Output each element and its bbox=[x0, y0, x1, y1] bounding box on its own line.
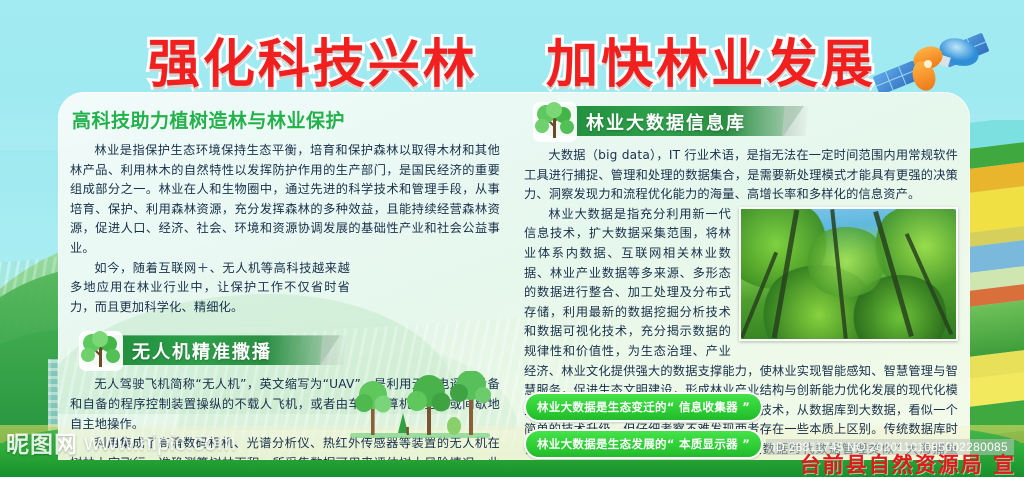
title-main: 强化科技兴林 bbox=[148, 22, 478, 97]
credit-line: 台前县自然资源局 宣 bbox=[800, 449, 1016, 477]
trees-illustration bbox=[344, 371, 494, 449]
drone-banner-tail bbox=[320, 335, 346, 365]
bigdata-paragraph-1: 大数据（big data），IT 行业术语，是指无法在一定时间范围内用常规软件工… bbox=[524, 146, 958, 205]
left-column: 高科技助力植树造林与林业保护 林业是指保护生态环境保持生态平衡，培育和保护森林以… bbox=[70, 92, 500, 460]
left-paragraph-2: 如今，随着互联网＋、无人机等高科技越来越多地应用在林业行业中，让保护工作不仅省时… bbox=[70, 259, 500, 318]
poster-canvas: 强化科技兴林 加快林业发展 bbox=[0, 0, 1024, 477]
forest-canopy-photo bbox=[739, 207, 958, 341]
bigdata-banner: 林业大数据信息库 bbox=[524, 102, 958, 140]
left-heading: 高科技助力植树造林与林业保护 bbox=[72, 106, 500, 133]
watermark: 昵图网 www.nipic.com bbox=[6, 425, 236, 459]
title-sub: 加快林业发展 bbox=[546, 22, 876, 97]
pill-item[interactable]: 林业大数据是生态发展的“ 本质显示器 ” bbox=[524, 429, 763, 459]
watermark-logo: 昵图网 bbox=[6, 425, 78, 459]
left-paragraph-1: 林业是指保护生态环境保持生态平衡，培育和保护森林以取得木材和其他林产品、利用林木… bbox=[70, 141, 500, 259]
pill-item[interactable]: 林业大数据是生态变迁的“ 信息收集器 ” bbox=[524, 392, 763, 422]
content-panel: 高科技助力植树造林与林业保护 林业是指保护生态环境保持生态平衡，培育和保护森林以… bbox=[58, 92, 970, 460]
tree-icon bbox=[530, 98, 580, 144]
drone-banner: 无人机精准撒播 bbox=[70, 331, 500, 369]
drone-banner-label: 无人机精准撒播 bbox=[132, 338, 272, 364]
bigdata-banner-tail bbox=[782, 106, 808, 136]
watermark-url: www.nipic.com bbox=[84, 429, 236, 456]
bigdata-banner-label: 林业大数据信息库 bbox=[586, 109, 746, 135]
tree-icon bbox=[76, 327, 126, 373]
